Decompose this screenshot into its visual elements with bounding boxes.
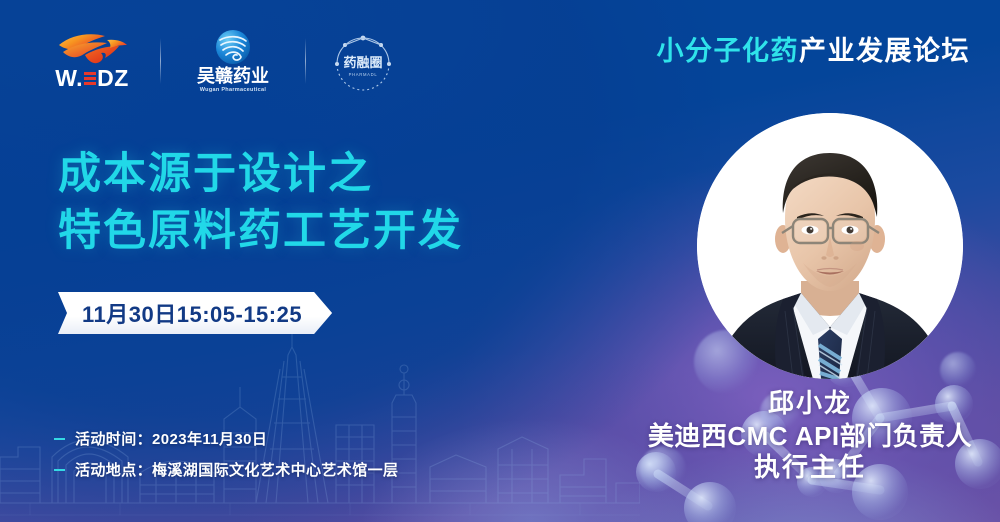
- globe-swirl-icon: [215, 29, 251, 65]
- wugan-name-cn: 吴赣药业: [197, 67, 269, 87]
- page-title: 成本源于设计之 特色原料药工艺开发: [58, 146, 463, 260]
- logo-yaorongquan[interactable]: 药融圈 PHARMADL: [326, 28, 400, 94]
- speaker-info: 邱小龙 美迪西CMC API部门负责人 执行主任: [620, 388, 1000, 484]
- wugan-name-en: Wugan Pharmaceutical: [200, 87, 266, 93]
- detail-label-time: 活动时间：2023年11月30日: [75, 428, 267, 449]
- speaker-name: 邱小龙: [620, 388, 1000, 420]
- yaorongquan-name-cn: 药融圈: [343, 55, 382, 70]
- speaker-portrait-photo: [697, 113, 963, 379]
- vertical-divider: [305, 38, 306, 84]
- time-badge: 11月30日15:05-15:25: [58, 292, 332, 334]
- speaker-title: 美迪西CMC API部门负责人: [620, 420, 1000, 452]
- logo-wedz[interactable]: W. DZ: [44, 32, 140, 90]
- phoenix-flame-icon: [55, 32, 129, 66]
- logo-wugan-pharmaceutical[interactable]: 吴赣药业 Wugan Pharmaceutical: [181, 29, 285, 94]
- dotted-circle-icon: 药融圈 PHARMADL: [326, 28, 400, 94]
- logo-bar: W. DZ: [44, 26, 400, 96]
- forum-title-rest: 产业发展论坛: [799, 36, 970, 66]
- speaker-role: 执行主任: [620, 452, 1000, 484]
- wedz-wordmark: W. DZ: [55, 67, 129, 90]
- forum-title-highlight: 小分子化药: [657, 36, 800, 66]
- promo-banner: W. DZ: [0, 0, 1000, 522]
- title-line-1: 成本源于设计之: [58, 146, 463, 203]
- event-details: 活动时间：2023年11月30日 活动地点：梅溪湖国际文化艺术中心艺术馆一层: [54, 428, 398, 480]
- detail-label-location: 活动地点：梅溪湖国际文化艺术中心艺术馆一层: [75, 459, 398, 480]
- title-line-2: 特色原料药工艺开发: [58, 203, 463, 260]
- avatar: [697, 113, 963, 379]
- detail-row-location: 活动地点：梅溪湖国际文化艺术中心艺术馆一层: [54, 459, 398, 480]
- yaorongquan-name-en: PHARMADL: [349, 72, 378, 77]
- wedz-prefix: W.: [55, 67, 83, 90]
- dash-bullet-icon: [54, 438, 65, 440]
- vertical-divider: [160, 38, 161, 84]
- wedz-suffix: DZ: [97, 67, 129, 90]
- forum-title: 小分子化药产业发展论坛: [657, 38, 971, 65]
- dash-bullet-icon: [54, 469, 65, 471]
- equals-bars-icon: [84, 72, 96, 85]
- detail-row-time: 活动时间：2023年11月30日: [54, 428, 398, 449]
